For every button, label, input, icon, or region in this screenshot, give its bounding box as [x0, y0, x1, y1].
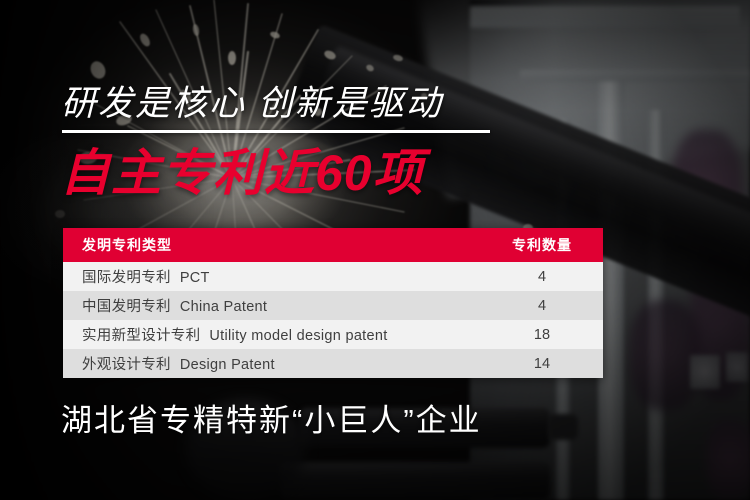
- patent-type-cn: 中国发明专利: [82, 299, 171, 315]
- poster-headline: 研发是核心 创新是驱动: [61, 82, 443, 126]
- patent-table: 发明专利类型 专利数量 国际发明专利PCT 4 中国发明专利China Pate…: [63, 228, 603, 378]
- patent-type-cn: 外观设计专利: [82, 357, 171, 373]
- patent-table-header-count: 专利数量: [481, 235, 603, 255]
- patent-type-en: Utility model design patent: [209, 328, 387, 344]
- patent-type-en: Design Patent: [180, 357, 275, 373]
- patent-count-cell: 14: [481, 356, 603, 372]
- table-row: 中国发明专利China Patent 4: [63, 291, 603, 320]
- table-row: 国际发明专利PCT 4: [63, 262, 603, 291]
- patent-type-en: China Patent: [180, 299, 267, 315]
- table-row: 实用新型设计专利Utility model design patent 18: [63, 320, 603, 349]
- patent-type-en: PCT: [180, 270, 210, 286]
- headline-divider: [62, 130, 490, 133]
- patent-type-cell: 国际发明专利PCT: [63, 266, 481, 287]
- table-row: 外观设计专利Design Patent 14: [63, 349, 603, 378]
- patent-count-cell: 4: [481, 269, 603, 285]
- poster-caption: 湖北省专精特新“小巨人”企业: [61, 400, 482, 442]
- patent-count-cell: 18: [481, 327, 603, 343]
- patent-type-cn: 实用新型设计专利: [82, 328, 200, 344]
- patent-table-header-type: 发明专利类型: [63, 235, 481, 255]
- patent-type-cell: 外观设计专利Design Patent: [63, 353, 481, 374]
- patent-type-cell: 中国发明专利China Patent: [63, 295, 481, 316]
- patent-type-cell: 实用新型设计专利Utility model design patent: [63, 324, 481, 345]
- poster-big-title: 自主专利近60项: [60, 142, 424, 204]
- patent-table-header-row: 发明专利类型 专利数量: [63, 228, 603, 262]
- poster-content: 研发是核心 创新是驱动 自主专利近60项 发明专利类型 专利数量 国际发明专利P…: [0, 0, 750, 500]
- patent-achievement-poster: 研发是核心 创新是驱动 自主专利近60项 发明专利类型 专利数量 国际发明专利P…: [0, 0, 750, 500]
- patent-count-cell: 4: [481, 298, 603, 314]
- patent-type-cn: 国际发明专利: [82, 270, 171, 286]
